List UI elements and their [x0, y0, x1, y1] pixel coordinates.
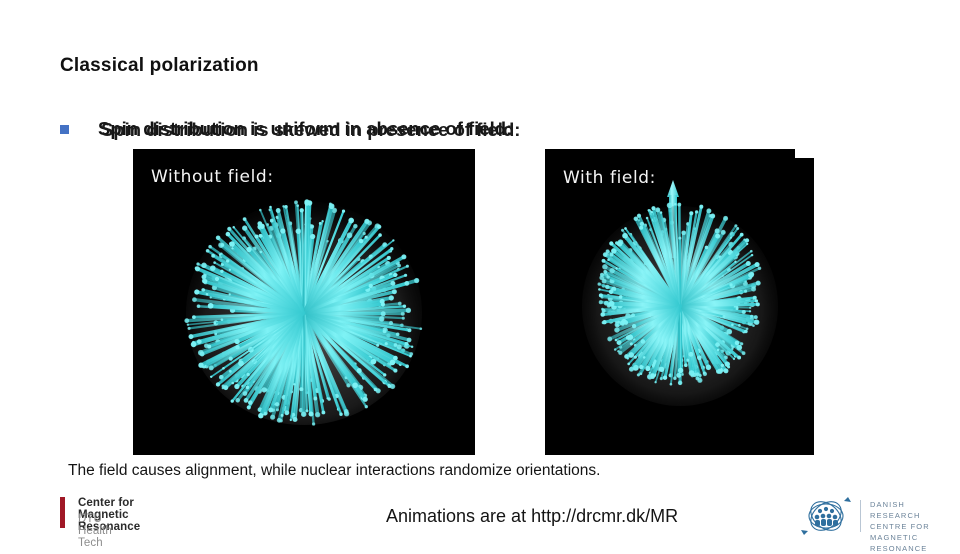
bullet-text-state-skewed: Spin distribution is skewed in presence …	[101, 119, 520, 141]
atom-orbit-people-icon	[798, 494, 854, 538]
spin-burst-without-field	[168, 185, 440, 435]
panel-without-field: Without field:	[133, 149, 475, 455]
footer-right-line3: MAGNETIC RESONANCE	[870, 532, 954, 554]
footer-logo-drcmr: DANISH RESEARCH CENTRE FOR MAGNETIC RESO…	[798, 494, 954, 538]
footer-left-line2: DTU Health Tech	[78, 513, 112, 549]
panel-label-without-field: Without field:	[151, 167, 274, 187]
footer-accent-bar	[60, 497, 65, 528]
footer-right-line1: DANISH RESEARCH	[870, 499, 954, 521]
slide-caption: The field causes alignment, while nuclea…	[68, 462, 600, 480]
footer-divider	[860, 500, 861, 532]
spin-burst-with-field	[573, 188, 788, 418]
slide-canvas: Classical polarization Spin distribution…	[0, 0, 960, 540]
panel-label-with-field: With field:	[563, 168, 656, 188]
panel-with-field: With field:	[545, 158, 814, 455]
square-bullet-icon	[60, 125, 69, 134]
page-title: Classical polarization	[60, 55, 259, 77]
animations-note: Animations are at http://drcmr.dk/MR	[386, 506, 678, 527]
footer-right-line2: CENTRE FOR	[870, 521, 954, 532]
footer-right-text: DANISH RESEARCH CENTRE FOR MAGNETIC RESO…	[870, 499, 954, 554]
